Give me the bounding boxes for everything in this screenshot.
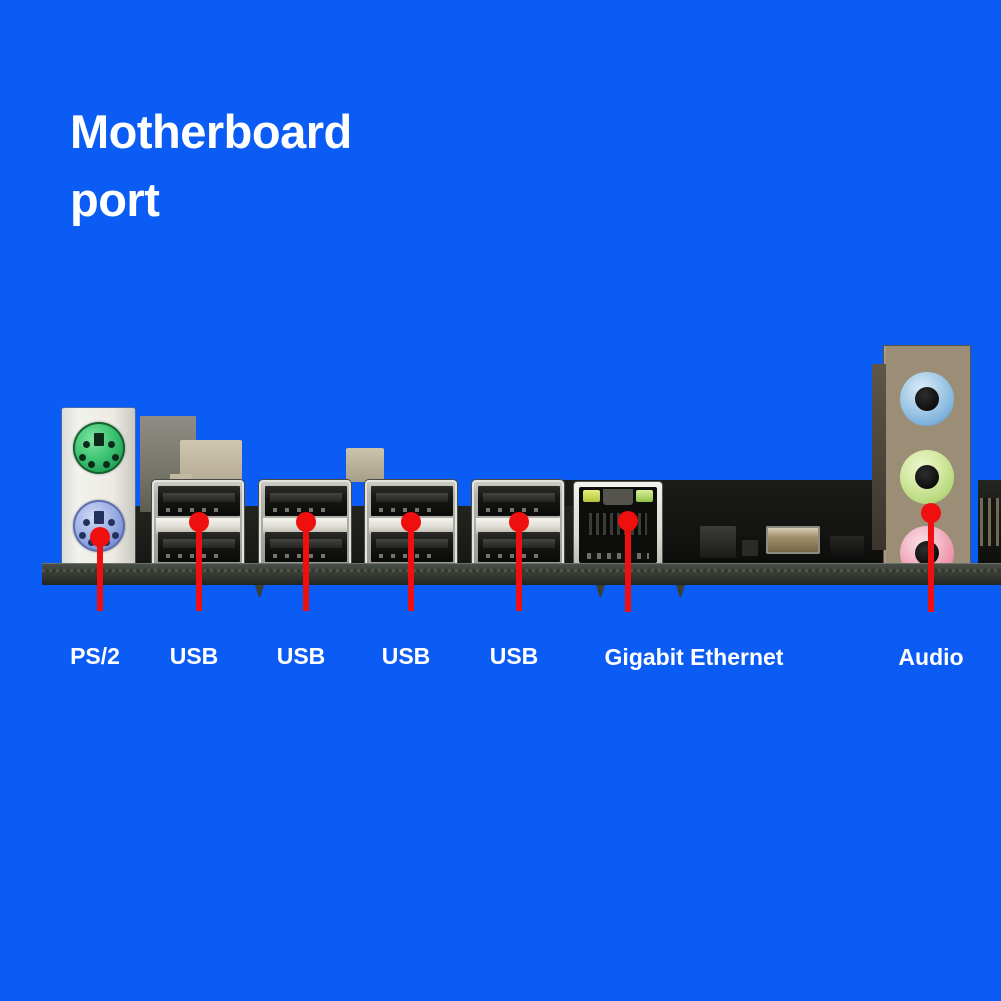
ps2-pin-hole xyxy=(88,461,95,468)
ps2-keyboard-port[interactable] xyxy=(73,422,125,474)
pcb-standoff-tab xyxy=(596,585,605,597)
callout-label-ps2: PS/2 xyxy=(70,643,120,670)
rj45-base-pins xyxy=(587,553,649,559)
pointer-line-ethernet xyxy=(625,520,631,612)
jack-hole xyxy=(915,541,939,565)
motherboard-assembly xyxy=(0,330,1001,590)
callout-label-usb3: USB xyxy=(382,643,431,670)
audio-line-out-jack[interactable] xyxy=(900,450,954,504)
rj45-latch-notch xyxy=(603,489,633,505)
smd-component xyxy=(742,540,758,556)
ps2-pin-hole xyxy=(83,441,90,448)
motherboard-port-diagram: Motherboard port xyxy=(0,0,1001,1001)
pointer-line-ps2 xyxy=(97,536,103,611)
ps2-key-slot xyxy=(94,511,104,524)
ps2-pin-hole xyxy=(112,454,119,461)
beige-connector-tab xyxy=(346,448,384,482)
pcb-standoff-tab xyxy=(676,585,685,597)
ps2-pin-hole xyxy=(108,441,115,448)
pointer-dot xyxy=(296,512,316,532)
ps2-pin-hole xyxy=(83,519,90,526)
pointer-dot xyxy=(618,511,638,531)
pcb-standoff-tab xyxy=(255,585,264,597)
callout-label-usb4: USB xyxy=(490,643,539,670)
pointer-dot xyxy=(509,512,529,532)
pointer-line-usb2 xyxy=(303,521,309,611)
page-title: Motherboard port xyxy=(70,98,490,234)
audio-line-in-jack[interactable] xyxy=(900,372,954,426)
pointer-line-usb3 xyxy=(408,521,414,611)
pointer-line-usb1 xyxy=(196,521,202,611)
ic-chip-component xyxy=(830,536,864,556)
pointer-dot xyxy=(90,527,110,547)
edge-connector-component xyxy=(978,480,1001,566)
pointer-line-usb4 xyxy=(516,521,522,611)
callout-label-usb1: USB xyxy=(170,643,219,670)
jack-hole xyxy=(915,465,939,489)
ps2-pin-hole xyxy=(79,454,86,461)
ps2-pin-hole xyxy=(108,519,115,526)
callout-label-usb2: USB xyxy=(277,643,326,670)
pointer-line-audio xyxy=(928,512,934,612)
pointer-dot xyxy=(189,512,209,532)
gold-connector-component xyxy=(766,526,820,554)
audio-jack-stack[interactable] xyxy=(884,346,970,568)
callout-label-audio: Audio xyxy=(898,644,963,671)
ps2-pin-hole xyxy=(112,532,119,539)
pointer-dot xyxy=(921,503,941,523)
callout-label-ethernet: Gigabit Ethernet xyxy=(605,644,784,671)
capacitor-component xyxy=(700,526,736,558)
jack-hole xyxy=(915,387,939,411)
ps2-key-slot xyxy=(94,433,104,446)
pointer-dot xyxy=(401,512,421,532)
ethernet-link-led xyxy=(583,490,600,502)
ethernet-activity-led xyxy=(636,490,653,502)
ps2-pin-hole xyxy=(79,532,86,539)
ps2-pin-hole xyxy=(103,461,110,468)
